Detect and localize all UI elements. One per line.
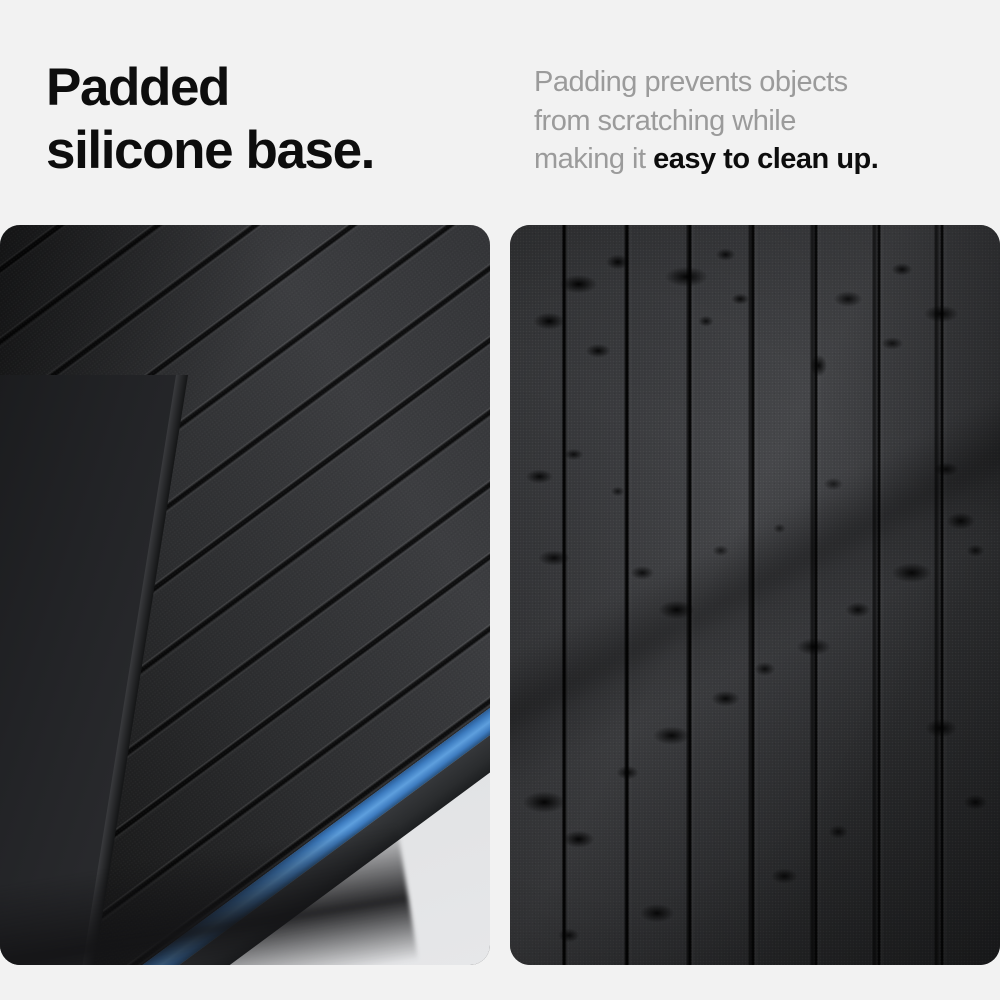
subcopy-muted-text: making it [534, 143, 653, 175]
headline-line-1: Padded [46, 57, 486, 120]
subcopy-line-1: Padding prevents objects [534, 63, 974, 102]
subcopy: Padding prevents objects from scratching… [534, 63, 974, 179]
photo-panels: Silicone padding [0, 225, 1000, 965]
subcopy-line-2: from scratching while [534, 102, 974, 141]
silicone-padding-callout: Silicone padding [0, 225, 490, 965]
padded-silicone-base-photo: Silicone padding [0, 225, 490, 965]
header: Padded silicone base. Padding prevents o… [0, 0, 1000, 225]
page-title: Padded silicone base. [46, 57, 486, 182]
photo-vignette [510, 225, 1000, 965]
easy-to-clean-surface-photo [510, 225, 1000, 965]
subcopy-strong-text: easy to clean up. [653, 143, 878, 175]
headline-line-2: silicone base. [46, 120, 486, 183]
subcopy-line-3: making it easy to clean up. [534, 140, 974, 179]
